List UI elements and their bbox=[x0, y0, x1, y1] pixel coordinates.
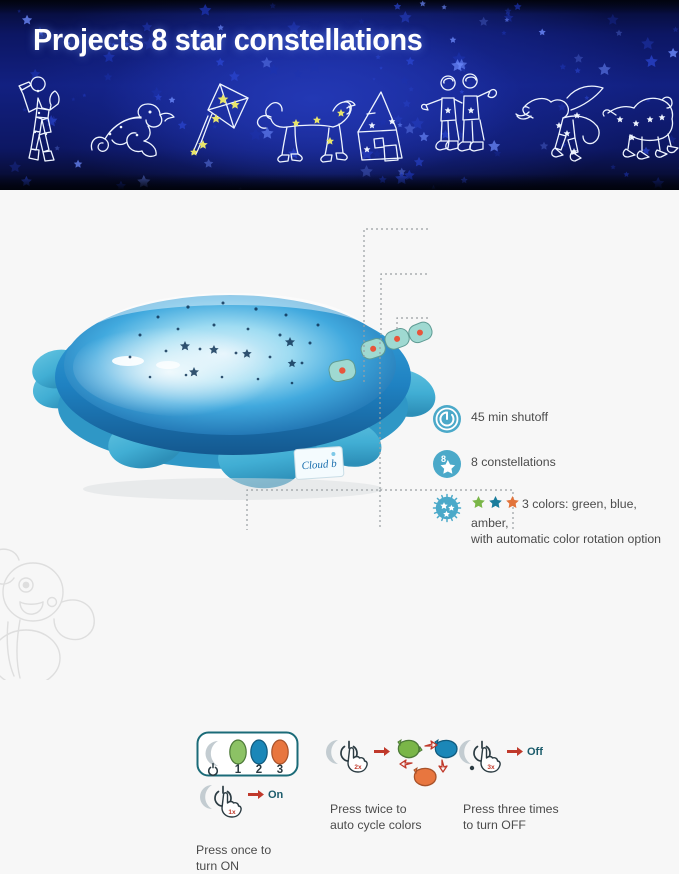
hero-title: Projects 8 star constellations bbox=[33, 22, 422, 58]
callout-colors-line2: with automatic color rotation option bbox=[471, 532, 661, 546]
color-burst-icon bbox=[432, 493, 462, 523]
background-star bbox=[667, 47, 679, 59]
callout-45-min-shutoff: 45 min shutoff bbox=[432, 404, 548, 434]
background-star bbox=[215, 57, 225, 67]
background-star bbox=[615, 29, 623, 37]
svg-text:2: 2 bbox=[256, 764, 262, 776]
background-star bbox=[606, 13, 620, 27]
background-star bbox=[573, 53, 584, 64]
constellation-pegasus bbox=[515, 82, 611, 170]
svg-text:Cloud b: Cloud b bbox=[301, 458, 337, 472]
turn-off-diagram: 3x Off bbox=[463, 736, 563, 792]
svg-text:On: On bbox=[268, 789, 284, 801]
press-count-1x: 1x bbox=[228, 809, 236, 816]
background-star bbox=[379, 66, 383, 70]
background-star bbox=[269, 2, 277, 10]
amber-star-swatch bbox=[505, 495, 520, 515]
callout-3-colors: 3 colors: green, blue, amber, with autom… bbox=[432, 493, 676, 548]
background-star bbox=[538, 28, 546, 36]
callout-constellations-label: 8 constellations bbox=[471, 449, 556, 471]
svg-text:3: 3 bbox=[277, 764, 283, 776]
constellation-dragon-draco bbox=[86, 86, 182, 172]
constellation-bear-ursa-major bbox=[600, 90, 679, 166]
turtle-line-art-watermark bbox=[0, 530, 116, 680]
press-twice-line1: Press twice to bbox=[330, 801, 462, 817]
brand-tag: Cloud b bbox=[294, 446, 344, 479]
press-once-line1: Press once to bbox=[196, 842, 304, 858]
press-twice-line2: auto cycle colors bbox=[330, 817, 462, 833]
off-indicator-dot bbox=[470, 766, 474, 770]
background-star bbox=[478, 16, 489, 27]
instruction-press-three-caption: Press three times to turn OFF bbox=[463, 801, 563, 833]
background-star bbox=[644, 54, 659, 69]
svg-text:8: 8 bbox=[441, 454, 446, 464]
control-panel-diagram: 1 2 3 1x On bbox=[196, 731, 304, 839]
background-star bbox=[419, 0, 426, 7]
instruction-press-three-times: 3x Off Press three times to turn OFF bbox=[463, 736, 563, 833]
background-star bbox=[17, 9, 21, 13]
constellation-row bbox=[0, 72, 679, 177]
background-star bbox=[393, 2, 402, 11]
hero-top-fade bbox=[0, 0, 679, 14]
press-count-2x: 2x bbox=[354, 764, 362, 771]
constellation-twins-gemini bbox=[420, 74, 506, 170]
press-three-line2: to turn OFF bbox=[463, 817, 563, 833]
press-once-line2: turn ON bbox=[196, 858, 304, 874]
background-star bbox=[21, 14, 33, 26]
instruction-press-twice: 2x bbox=[330, 736, 462, 833]
infographic-root: Projects 8 star constellations bbox=[0, 0, 679, 679]
svg-text:Off: Off bbox=[527, 746, 543, 758]
timer-shutoff-icon bbox=[432, 404, 462, 434]
eight-constellations-star-icon: 8 bbox=[432, 449, 462, 479]
callout-shutoff-label: 45 min shutoff bbox=[471, 404, 548, 426]
background-star bbox=[198, 3, 213, 18]
press-three-line1: Press three times bbox=[463, 801, 563, 817]
constellation-house bbox=[350, 86, 412, 170]
instruction-press-once: 1 2 3 1x On bbox=[196, 731, 304, 874]
background-star bbox=[672, 26, 679, 33]
auto-cycle-colors-diagram: 2x bbox=[330, 736, 462, 792]
press-count-3x: 3x bbox=[487, 764, 495, 771]
blue-star-swatch bbox=[488, 495, 503, 515]
background-star bbox=[513, 2, 522, 11]
hero-bottom-fade bbox=[0, 174, 679, 190]
callout-colors-text: 3 colors: green, blue, amber, with autom… bbox=[471, 493, 676, 548]
hero-starfield-banner: Projects 8 star constellations bbox=[0, 0, 679, 190]
instruction-press-once-caption: Press once to turn ON bbox=[196, 842, 304, 874]
background-star bbox=[559, 63, 567, 71]
background-star bbox=[449, 36, 457, 44]
background-star bbox=[441, 4, 447, 10]
constellation-dog-canis-major bbox=[255, 90, 361, 168]
background-star bbox=[640, 36, 656, 52]
instruction-press-twice-caption: Press twice to auto cycle colors bbox=[330, 801, 462, 833]
green-star-swatch bbox=[471, 495, 486, 515]
details-panel: Cloud b bbox=[0, 190, 679, 679]
background-star bbox=[504, 17, 510, 23]
product-photo-turtle-night-light: Cloud b bbox=[18, 265, 448, 510]
constellation-warrior-orion bbox=[8, 72, 78, 172]
background-star bbox=[501, 30, 507, 36]
callout-8-constellations: 8 8 constellations bbox=[432, 449, 556, 479]
constellation-kite bbox=[190, 78, 256, 170]
svg-text:1: 1 bbox=[235, 764, 242, 776]
